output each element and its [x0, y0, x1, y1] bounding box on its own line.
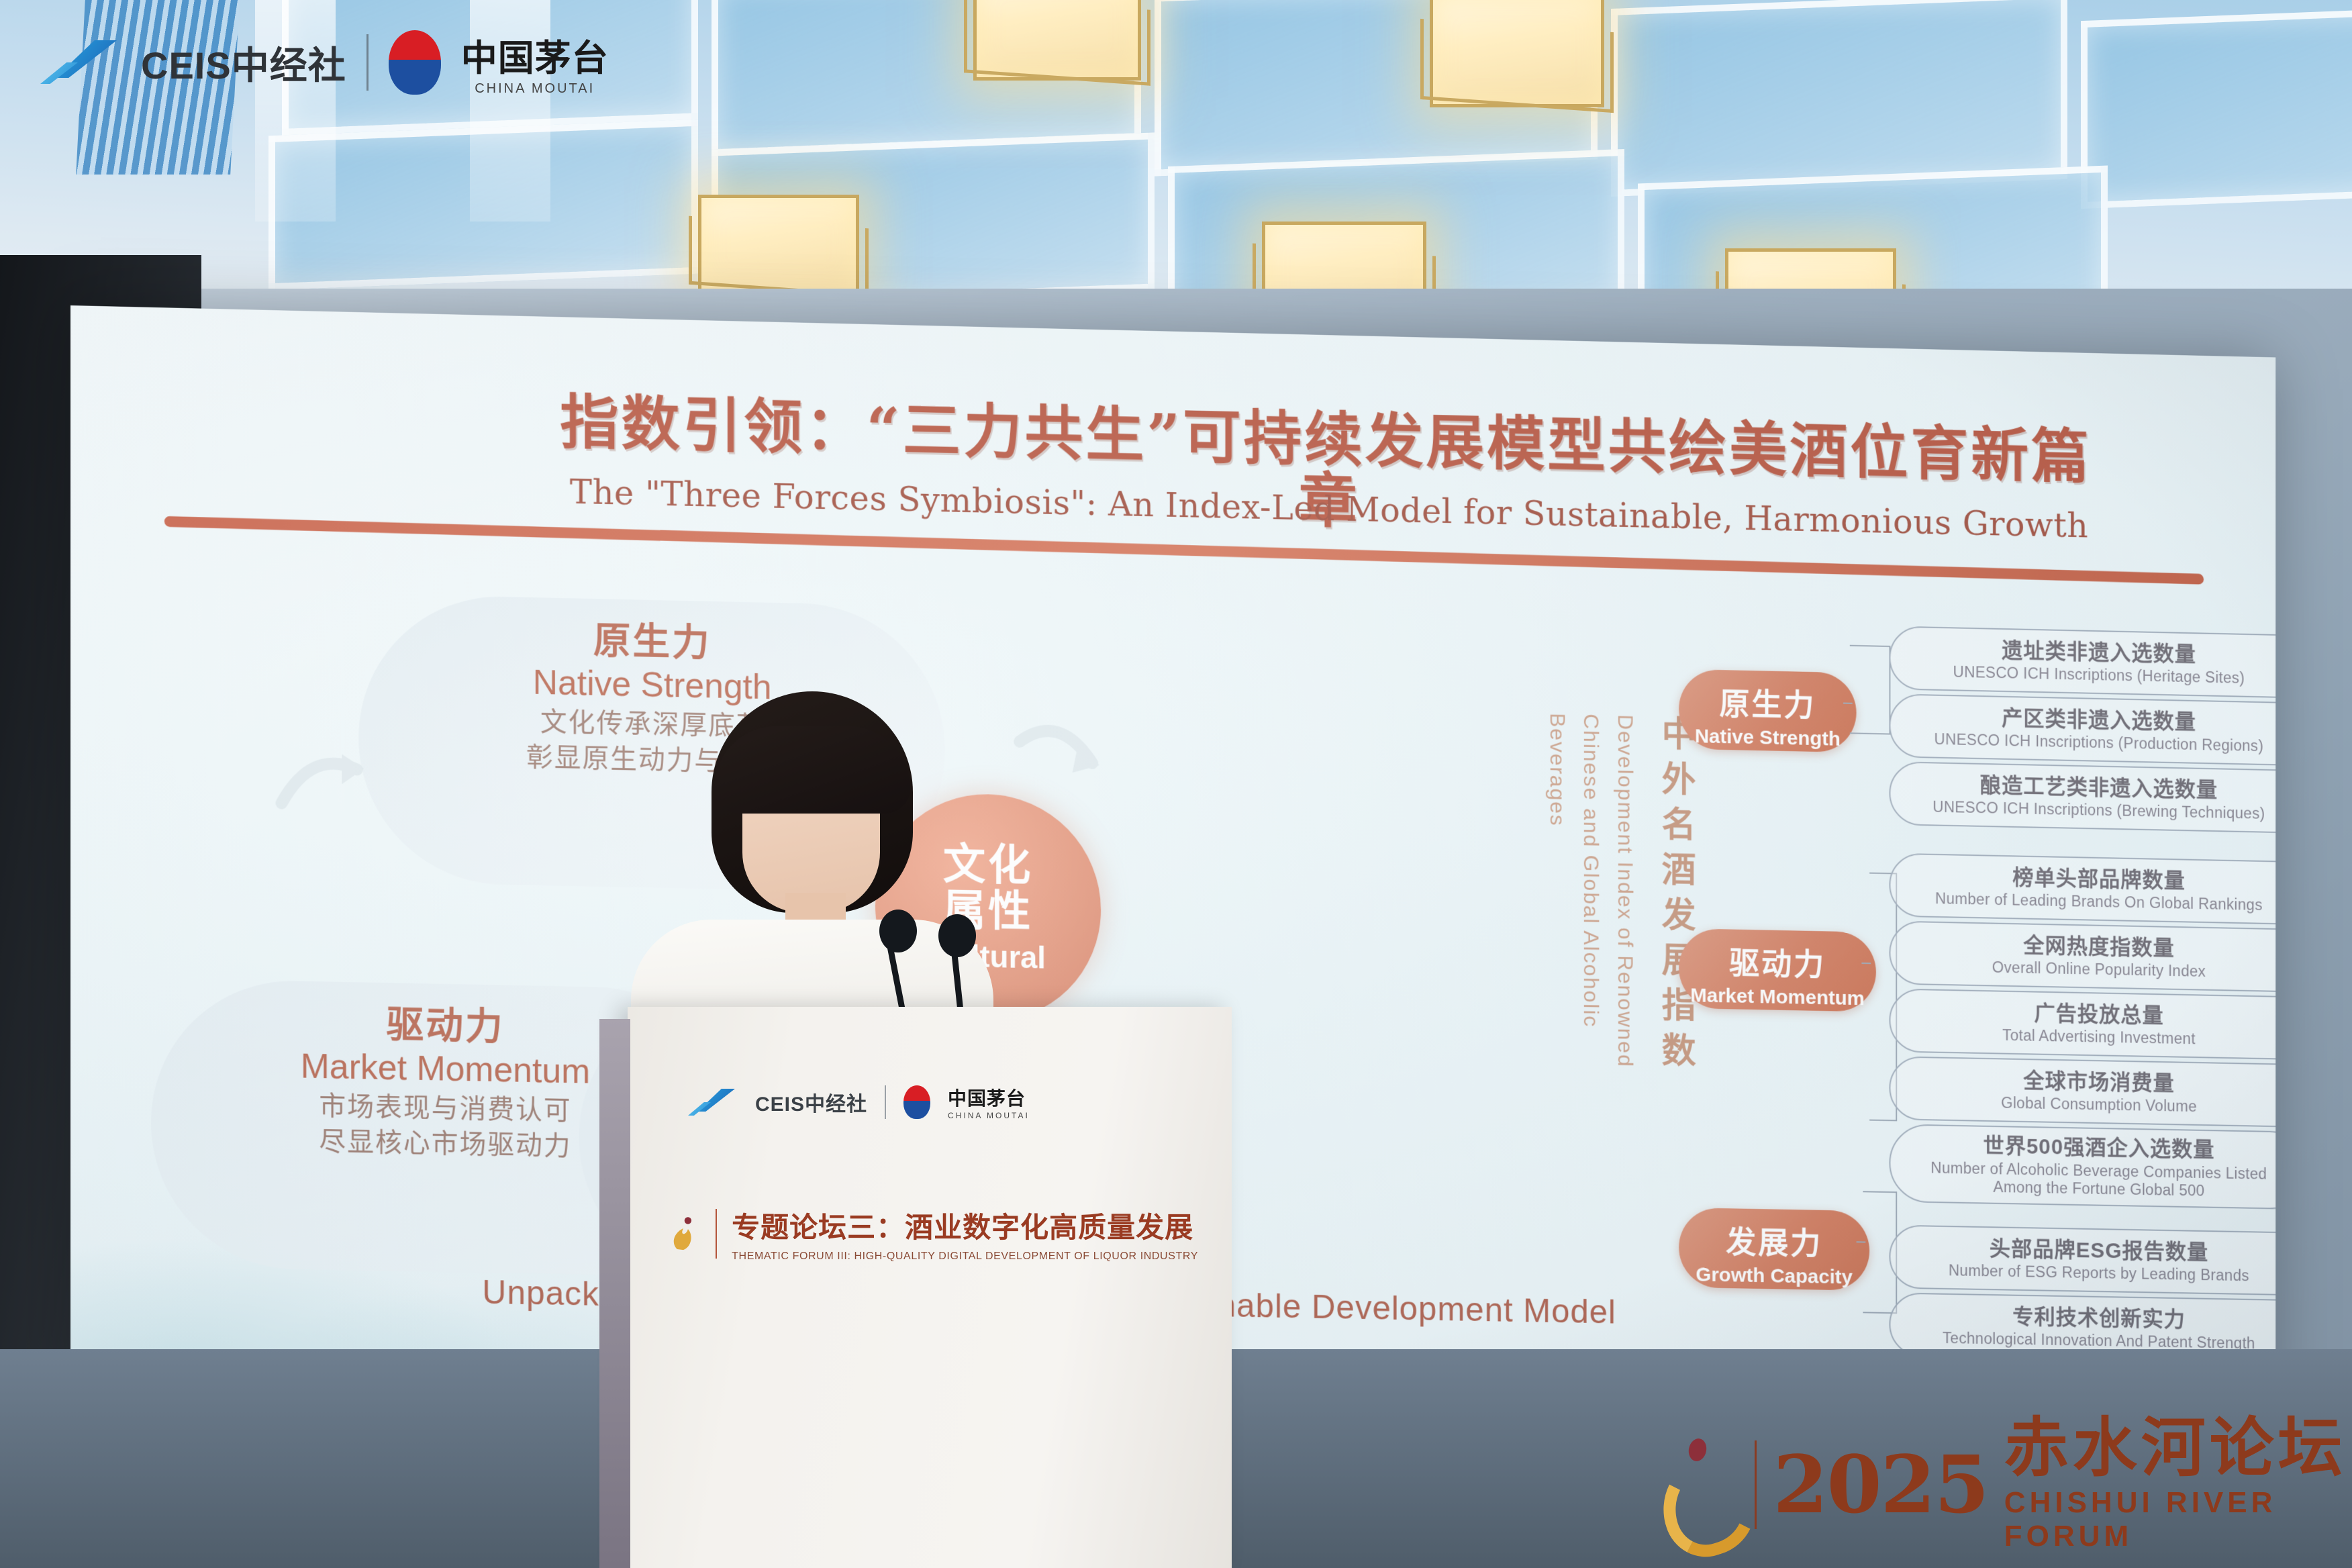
index-label-en: Development Index of Renowned Chinese an… [1540, 713, 1642, 1114]
moutai-logo-sublabel: CHINA MOUTAI [948, 1111, 1030, 1120]
metric-pill: 全球市场消费量 Global Consumption Volume [1889, 1056, 2275, 1128]
metric-en: Total Advertising Investment [2002, 1026, 2196, 1048]
podium-title-en: THEMATIC FORUM III: HIGH-QUALITY DIGITAL… [732, 1251, 1198, 1263]
metric-en: Global Consumption Volume [2001, 1094, 2197, 1116]
badge-native-en: Native Strength [1685, 725, 1850, 751]
badge-market-cn: 驱动力 [1685, 938, 1869, 985]
pendant-lamp [1430, 0, 1598, 101]
metric-cn: 酿造工艺类非遗入选数量 [1980, 773, 2218, 802]
moutai-logo-label: 中国茅台 [461, 28, 609, 81]
podium-title-cn: 专题论坛三：酒业数字化高质量发展 [732, 1205, 1198, 1246]
podium-forum-title-block: 专题论坛三：酒业数字化高质量发展 THEMATIC FORUM III: HIG… [668, 1202, 1198, 1266]
forum-logo-divider [1755, 1440, 1757, 1529]
forum-flame-icon [668, 1202, 701, 1266]
badge-market-en: Market Momentum [1685, 984, 1869, 1010]
moutai-logo-label: 中国茅台 [948, 1084, 1030, 1111]
forum-name-cn: 赤水河论坛 [2004, 1416, 2352, 1481]
metric-cn: 全球市场消费量 [2023, 1068, 2174, 1095]
metric-en: UNESCO ICH Inscriptions (Production Regi… [1934, 730, 2263, 755]
moutai-logo-icon [389, 30, 441, 95]
forum-name-en: CHISHUI RIVER FORUM [2004, 1486, 2352, 1553]
ceis-logo-icon [40, 38, 121, 87]
metric-pill: 广告投放总量 Total Advertising Investment [1889, 988, 2275, 1060]
ceiling-coffer [2081, 6, 2352, 209]
ceis-logo-label: CEIS中经社 [755, 1087, 867, 1117]
metric-en: UNESCO ICH Inscriptions (Heritage Sites) [1953, 663, 2245, 687]
metric-pill: 产区类非遗入选数量 UNESCO ICH Inscriptions (Produ… [1889, 693, 2275, 766]
metric-cn: 榜单头部品牌数量 [2012, 865, 2186, 893]
podium-logo-bar: CEIS中经社 中国茅台 CHINA MOUTAI [688, 1084, 1030, 1120]
metric-cn: 头部品牌ESG报告数量 [1990, 1236, 2208, 1265]
metric-en: Overall Online Popularity Index [1992, 959, 2206, 981]
badge-growth-en: Growth Capacity [1685, 1263, 1863, 1289]
pendant-lamp [698, 195, 852, 285]
microphone-head [879, 910, 917, 952]
chishui-river-forum-logo: 2025 赤水河论坛 CHISHUI RIVER FORUM [1658, 1416, 2352, 1553]
ceiling-coffer [1611, 0, 2067, 197]
metric-pill: 头部品牌ESG报告数量 Number of ESG Reports by Lea… [1889, 1224, 2275, 1295]
venue-logo-bar: CEIS中经社 中国茅台 CHINA MOUTAI [40, 28, 609, 97]
badge-market-momentum: 驱动力 Market Momentum [1679, 928, 1876, 1012]
metric-cn: 遗址类非遗入选数量 [2002, 638, 2196, 667]
connector-growth-stem [1857, 1241, 1866, 1242]
connector-market-stem [1861, 963, 1871, 964]
moutai-logo-icon [903, 1085, 930, 1119]
conference-photo-scene: CEIS中经社 中国茅台 CHINA MOUTAI 指数引领：“三力共生”可持续… [0, 0, 2352, 1568]
index-vertical-label: 中外名酒发展指数 Development Index of Renowned C… [1540, 713, 1700, 1181]
metric-cn: 产区类非遗入选数量 [2002, 705, 2196, 734]
badge-native-cn: 原生力 [1685, 679, 1850, 726]
connector-native [1850, 645, 1891, 735]
flow-arrow-icon [272, 732, 373, 835]
logo-divider [366, 34, 369, 91]
podium: CEIS中经社 中国茅台 CHINA MOUTAI 专题论坛三：酒业数字化高质量… [628, 1007, 1232, 1568]
metric-en: Number of Alcoholic Beverage Companies L… [1908, 1159, 2275, 1202]
connector-native-stem [1843, 703, 1853, 704]
forum-year: 2025 [1773, 1445, 1988, 1524]
metric-cn: 广告投放总量 [2034, 1001, 2163, 1028]
badge-growth-capacity: 发展力 Growth Capacity [1679, 1208, 1869, 1291]
metric-cn: 世界500强酒企入选数量 [1983, 1134, 2215, 1163]
forum-swoosh-icon [1658, 1434, 1738, 1535]
speaker-hair-front [714, 726, 910, 814]
metric-pill: 酿造工艺类非遗入选数量 UNESCO ICH Inscriptions (Bre… [1889, 761, 2275, 834]
metric-pill: 遗址类非遗入选数量 UNESCO ICH Inscriptions (Herit… [1889, 626, 2275, 698]
metric-en: Number of ESG Reports by Leading Brands [1949, 1262, 2249, 1285]
badge-native-strength: 原生力 Native Strength [1679, 669, 1856, 752]
metric-pill: 全网热度指数量 Overall Online Popularity Index [1889, 920, 2275, 992]
metric-cn: 全网热度指数量 [2023, 933, 2174, 961]
badge-growth-cn: 发展力 [1685, 1217, 1863, 1264]
metric-pill: 世界500强酒企入选数量 Number of Alcoholic Beverag… [1889, 1124, 2275, 1210]
podium-side-panel [599, 1019, 630, 1568]
metric-cn: 专利技术创新实力 [2012, 1304, 2186, 1332]
metric-en: Number of Leading Brands On Global Ranki… [1935, 890, 2263, 915]
flow-arrow-icon [1005, 701, 1104, 803]
pendant-lamp [973, 0, 1134, 74]
logo-divider [885, 1085, 886, 1119]
metric-pill: 榜单头部品牌数量 Number of Leading Brands On Glo… [1889, 853, 2275, 926]
moutai-logo-sublabel: CHINA MOUTAI [461, 81, 609, 97]
index-label-cn: 中外名酒发展指数 [1651, 715, 1700, 1077]
ceis-logo-label: CEIS中经社 [141, 36, 346, 90]
ceis-logo-icon [688, 1087, 738, 1117]
podium-title-divider [716, 1209, 717, 1259]
